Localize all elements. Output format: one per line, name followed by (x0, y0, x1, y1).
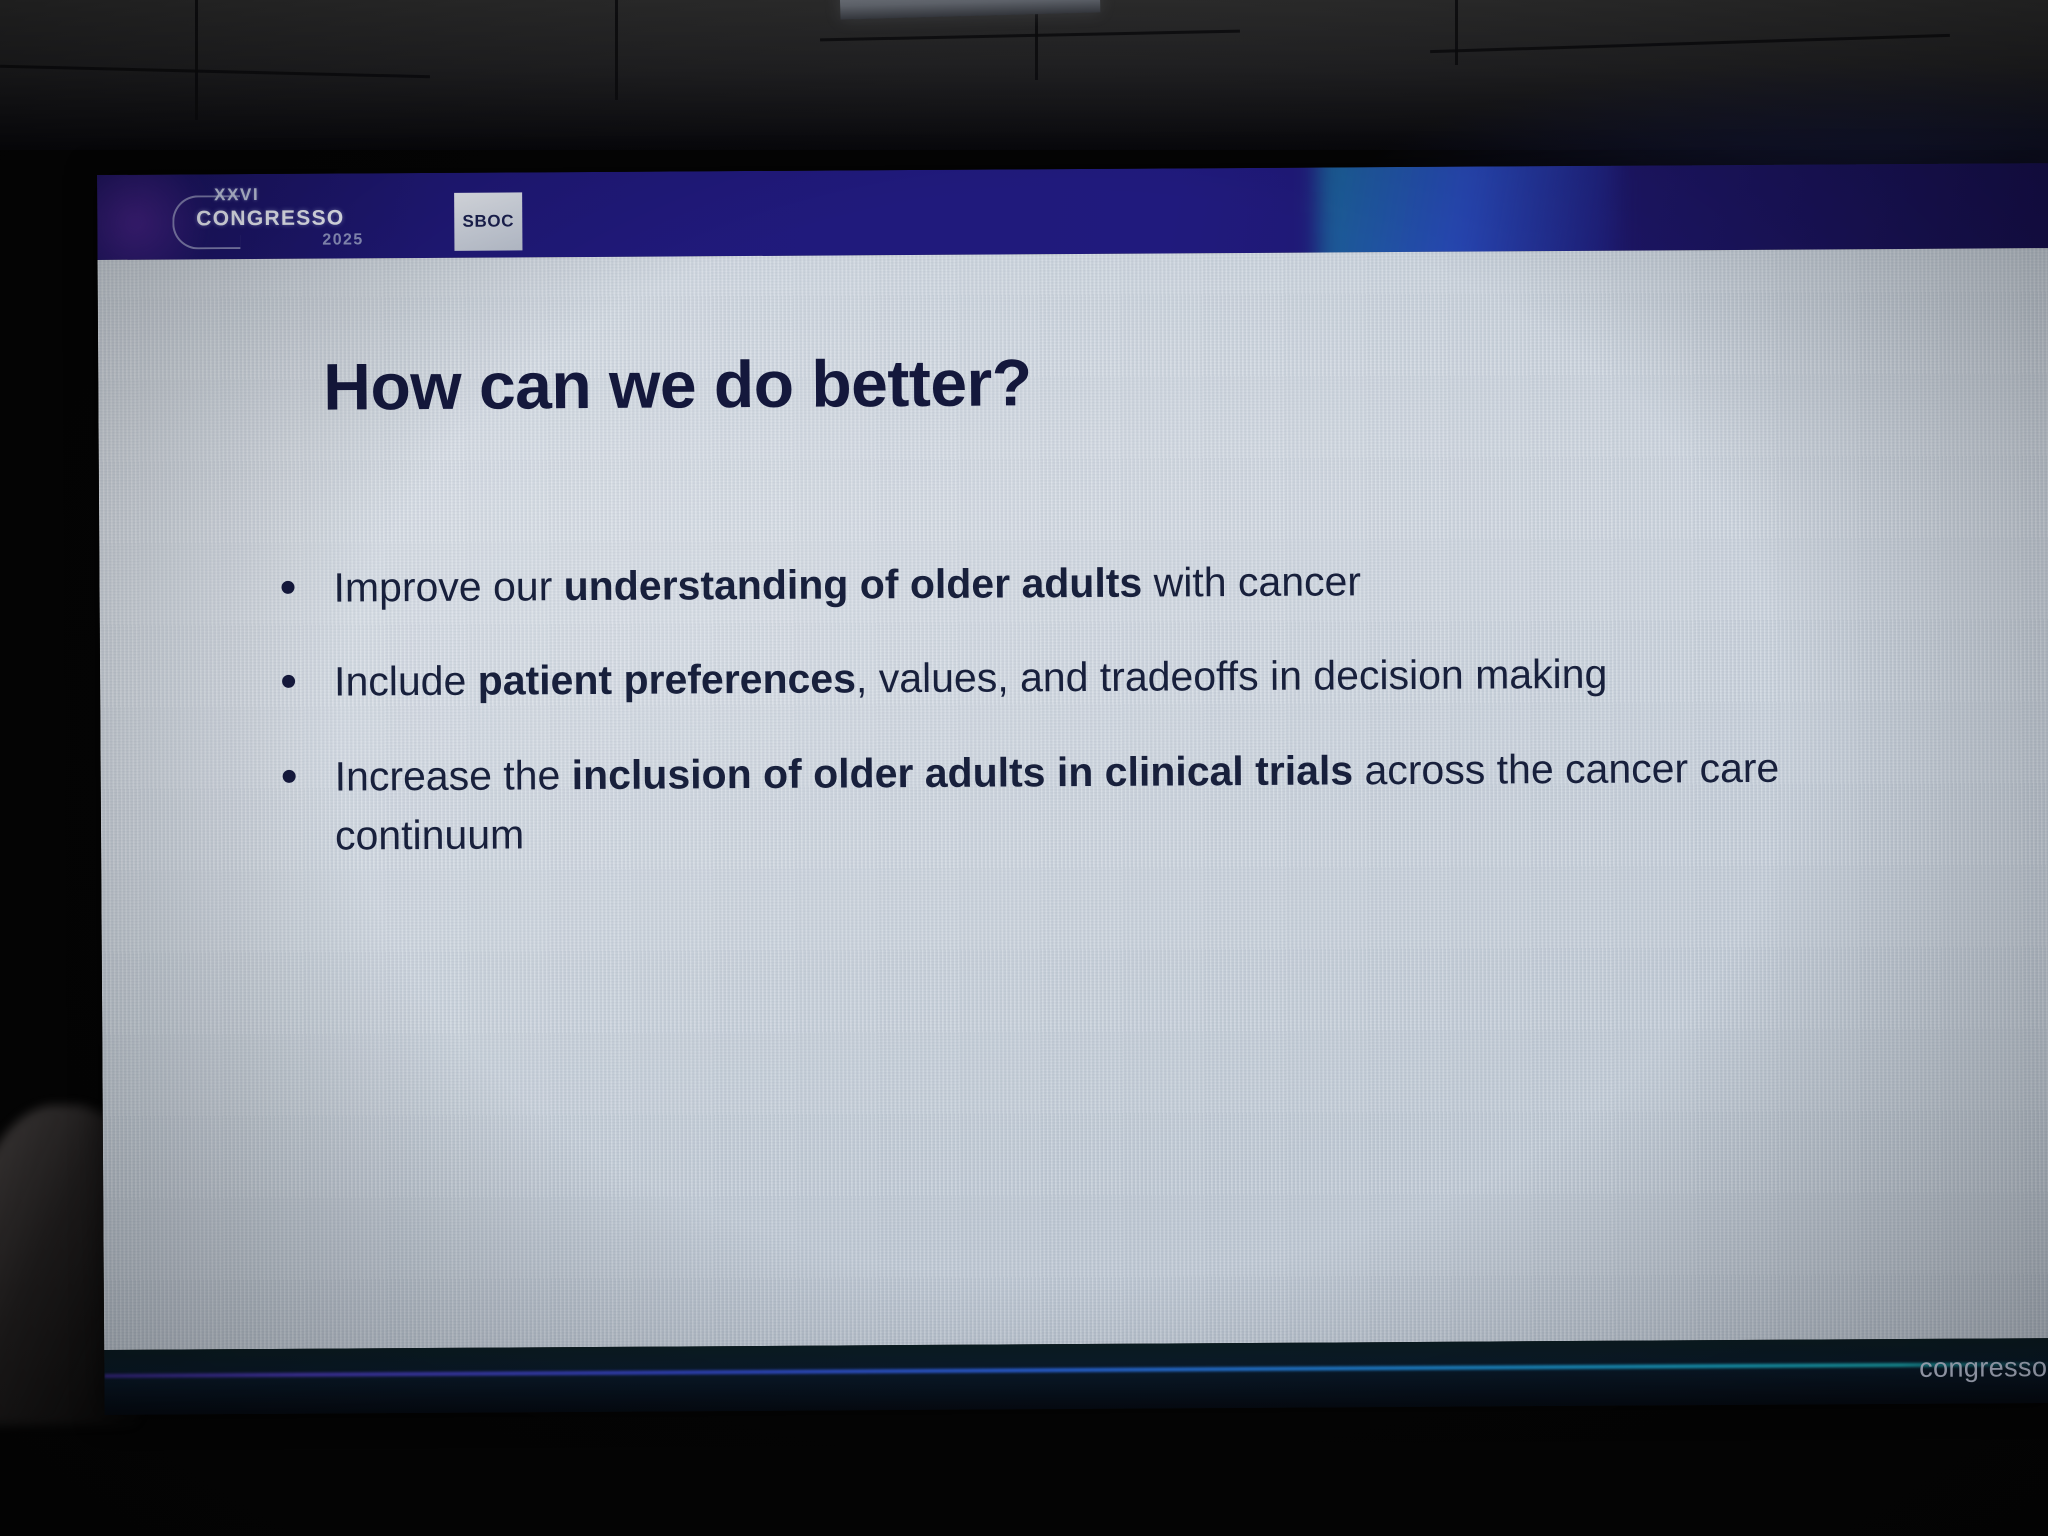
ceiling-light-fixture (840, 0, 1101, 20)
bullet-dot-icon (283, 770, 296, 783)
bullet-text: Increase the inclusion of older adults i… (335, 745, 1780, 859)
header-glow-right (1318, 163, 1619, 260)
bullet-plain: Improve our (333, 563, 563, 610)
bullet-dot-icon (282, 675, 295, 688)
bullet-list: Improve our understanding of older adult… (271, 549, 1973, 902)
auditorium-photo: XXVI CONGRESSO 2025 SBOC How can we do b… (0, 0, 2048, 1536)
bullet-plain: Include (334, 658, 478, 705)
slide-footer-band: congresso (104, 1338, 2048, 1415)
bullet-plain: Increase the (335, 752, 572, 799)
footer-accent-line (104, 1362, 2048, 1378)
bullet-item: Improve our understanding of older adult… (271, 549, 1971, 619)
slide-title: How can we do better? (323, 344, 1032, 424)
sboc-badge: SBOC (454, 192, 522, 250)
bullet-emphasis: inclusion of older adults in clinical tr… (572, 747, 1354, 798)
bullet-plain: with cancer (1142, 558, 1361, 605)
slide-header-band: XXVI CONGRESSO 2025 SBOC (97, 163, 2048, 260)
bullet-emphasis: patient preferences (478, 656, 857, 704)
bullet-plain: , values, and tradeoffs in decision maki… (856, 651, 1608, 702)
bullet-text: Improve our understanding of older adult… (333, 558, 1361, 610)
slide-body: How can we do better? Improve our unders… (98, 248, 2048, 1350)
bullet-emphasis: understanding of older adults (564, 560, 1143, 610)
bullet-dot-icon (281, 581, 294, 594)
logo-year: 2025 (322, 231, 363, 249)
logo-event-name: CONGRESSO (196, 206, 344, 231)
footer-brand-label: congresso (1919, 1352, 2047, 1384)
bullet-item: Include patient preferences, values, and… (272, 643, 1972, 713)
bullet-item: Increase the inclusion of older adults i… (273, 737, 1974, 866)
logo-roman-numeral: XXVI (214, 185, 259, 205)
congress-logo: XXVI CONGRESSO 2025 SBOC (172, 181, 462, 257)
bullet-text: Include patient preferences, values, and… (334, 651, 1607, 705)
projected-slide: XXVI CONGRESSO 2025 SBOC How can we do b… (97, 163, 2048, 1415)
sboc-badge-label: SBOC (462, 211, 514, 231)
